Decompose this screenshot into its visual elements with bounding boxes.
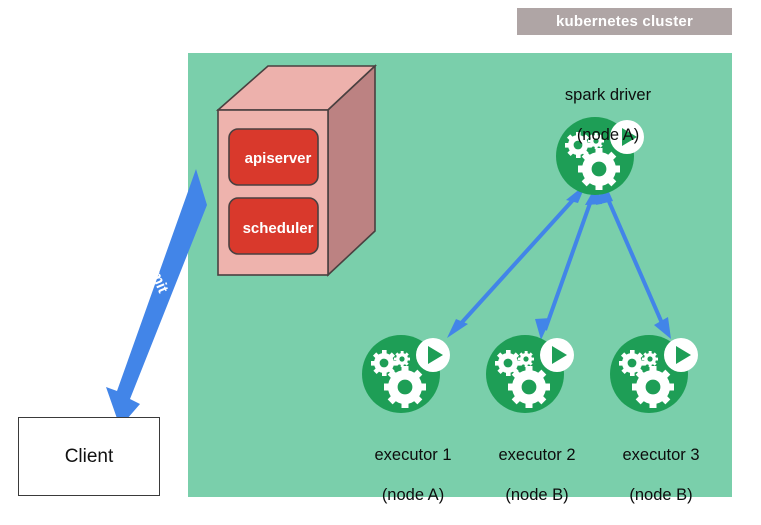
client-box[interactable]: Client [18,417,160,496]
apiserver-label: apiserver [219,150,337,167]
spark-driver-label-line2: (node A) [528,125,688,145]
executor-3-label-line1: executor 3 [596,445,726,465]
executor-1-label: executor 1 (node A) [348,425,478,525]
client-label: Client [65,446,114,468]
kubernetes-cluster-label: kubernetes cluster [517,8,732,35]
spark-submit-label: spark-submit [116,190,177,308]
diagram-canvas: kubernetes cluster apiserver scheduler [0,0,761,516]
executor-2-label: executor 2 (node B) [472,425,602,525]
spark-driver-label-line1: spark driver [528,85,688,105]
executor-2-node[interactable] [481,330,581,414]
scheduler-label: scheduler [219,220,337,237]
executor-3-node[interactable] [605,330,705,414]
spark-driver-label: spark driver (node A) [528,65,688,165]
executor-1-label-line1: executor 1 [348,445,478,465]
executor-1-node[interactable] [357,330,457,414]
executor-2-label-line2: (node B) [472,485,602,505]
executor-3-label-line2: (node B) [596,485,726,505]
executor-3-label: executor 3 (node B) [596,425,726,525]
executor-1-label-line2: (node A) [348,485,478,505]
executor-2-label-line1: executor 2 [472,445,602,465]
control-plane-cube [200,60,380,290]
